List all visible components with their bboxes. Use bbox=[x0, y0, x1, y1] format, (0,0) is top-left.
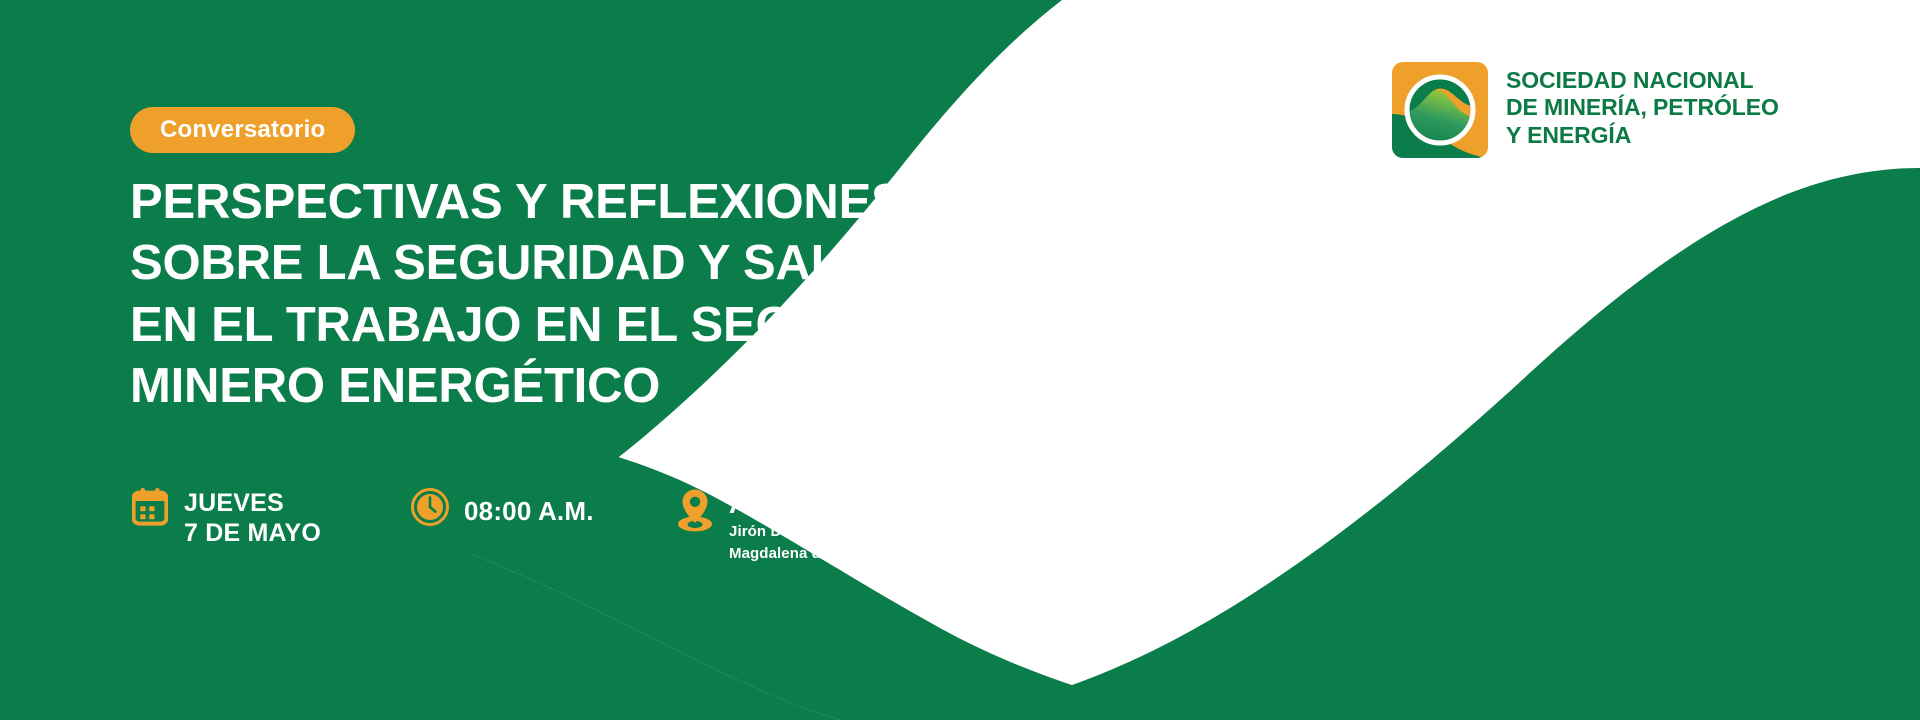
event-venue: AUDITORIO SNMPE bbox=[729, 489, 987, 519]
event-date-item: JUEVES 7 DE MAYO bbox=[130, 488, 410, 548]
event-content: Conversatorio PERSPECTIVAS Y REFLEXIONES… bbox=[130, 0, 1110, 720]
title-line-4: MINERO ENERGÉTICO bbox=[130, 356, 1110, 417]
calendar-icon bbox=[130, 488, 170, 532]
title-line-3: EN EL TRABAJO EN EL SECTOR bbox=[130, 295, 1110, 356]
location-pin-icon bbox=[675, 488, 715, 532]
logo-line-2: DE MINERÍA, PETRÓLEO bbox=[1506, 94, 1779, 121]
event-day-date: 7 DE MAYO bbox=[184, 519, 321, 547]
snmpe-logo-mark-icon bbox=[1392, 62, 1488, 158]
event-title: PERSPECTIVAS Y REFLEXIONES SOBRE LA SEGU… bbox=[130, 172, 1110, 418]
snmpe-logo-text: SOCIEDAD NACIONAL DE MINERÍA, PETRÓLEO Y… bbox=[1506, 62, 1779, 149]
event-place-item: AUDITORIO SNMPE Jirón De La Roca De Verg… bbox=[675, 488, 1105, 564]
event-time-value: 08:00 A.M. bbox=[464, 496, 594, 526]
snmpe-logo: SOCIEDAD NACIONAL DE MINERÍA, PETRÓLEO Y… bbox=[1392, 62, 1779, 158]
event-banner: Conversatorio PERSPECTIVAS Y REFLEXIONES… bbox=[0, 0, 1920, 720]
event-type-badge: Conversatorio bbox=[130, 107, 355, 153]
clock-icon bbox=[410, 488, 450, 532]
logo-line-3: Y ENERGÍA bbox=[1506, 122, 1779, 149]
event-date-text: JUEVES 7 DE MAYO bbox=[184, 488, 410, 548]
event-address-line-1: Jirón De La Roca De Vergallo N°461 bbox=[729, 523, 987, 540]
title-line-1: PERSPECTIVAS Y REFLEXIONES bbox=[130, 172, 1110, 233]
title-line-2: SOBRE LA SEGURIDAD Y SALUD bbox=[130, 233, 1110, 294]
logo-line-1: SOCIEDAD NACIONAL bbox=[1506, 67, 1779, 94]
event-time-text: 08:00 A.M. bbox=[464, 488, 594, 527]
event-time-item: 08:00 A.M. bbox=[410, 488, 675, 532]
event-day-name: JUEVES bbox=[184, 489, 284, 517]
event-place-text: AUDITORIO SNMPE Jirón De La Roca De Verg… bbox=[729, 488, 1105, 564]
event-address-line-2: Magdalena del Mar bbox=[729, 545, 865, 562]
event-details-row: JUEVES 7 DE MAYO 08:00 A.M. bbox=[130, 488, 1105, 564]
